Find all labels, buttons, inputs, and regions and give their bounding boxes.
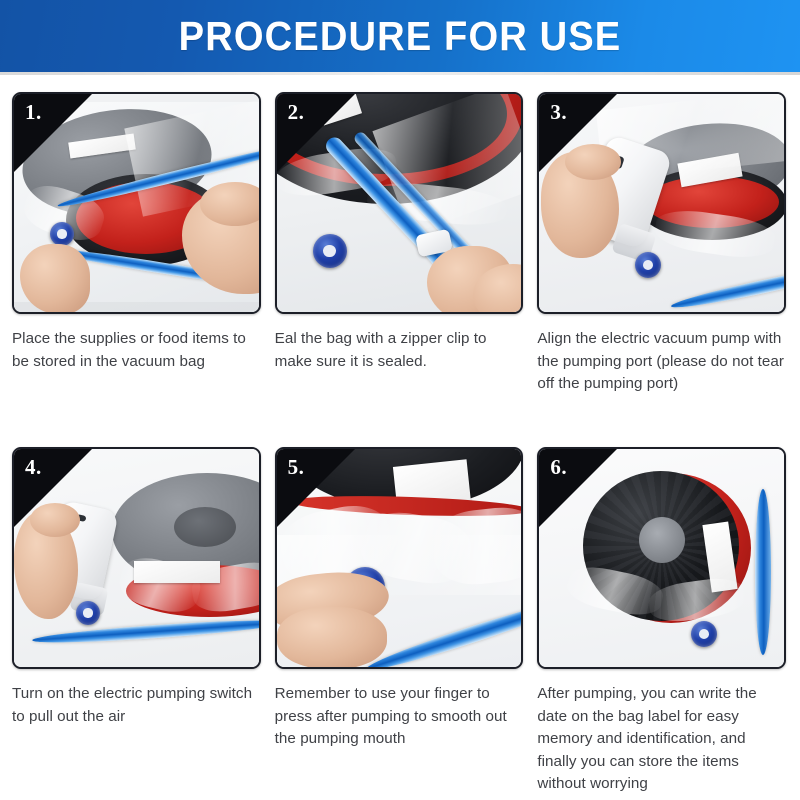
step-photo-4: 4. [12,447,261,669]
step-cell-6: 6. After pumping, you can write the date… [531,441,794,800]
scene-turn-on-pump [14,449,259,667]
valve-icon [76,601,100,625]
scene-sealed-bag-with-label [539,449,784,667]
step-photo-2: 2. [275,92,524,314]
scene-place-item-in-bag [14,94,259,312]
step-caption-6: After pumping, you can write the date on… [537,683,786,796]
steps-grid: 1. Place the supplies or food items to b… [0,78,800,800]
step-caption-3: Align the electric vacuum pump with the … [537,328,786,396]
banner-underline [0,72,800,75]
valve-icon [50,222,74,246]
header-banner: PROCEDURE FOR USE [0,0,800,72]
step-caption-1: Place the supplies or food items to be s… [12,328,261,373]
step-photo-3: 3. [537,92,786,314]
step-photo-1: 1. [12,92,261,314]
page-title: PROCEDURE FOR USE [179,13,622,60]
scene-seal-zipper-clip [277,94,522,312]
step-cell-3: 3. Align the electric vacuum pump with t… [531,86,794,441]
step-photo-5: 5. [275,447,524,669]
scene-align-pump-with-port [539,94,784,312]
step-caption-5: Remember to use your finger to press aft… [275,683,524,751]
step-caption-4: Turn on the electric pumping switch to p… [12,683,261,728]
step-cell-5: 5. Remember to use your finger to press … [269,441,532,800]
valve-icon [313,234,347,268]
step-photo-6: 6. [537,447,786,669]
step-cell-4: 4. Turn on the electric pumping switch t… [6,441,269,800]
step-caption-2: Eal the bag with a zipper clip to make s… [275,328,524,373]
step-cell-2: 2. Eal the bag with a zipper clip to mak… [269,86,532,441]
scene-press-valve-with-finger [277,449,522,667]
step-cell-1: 1. Place the supplies or food items to b… [6,86,269,441]
